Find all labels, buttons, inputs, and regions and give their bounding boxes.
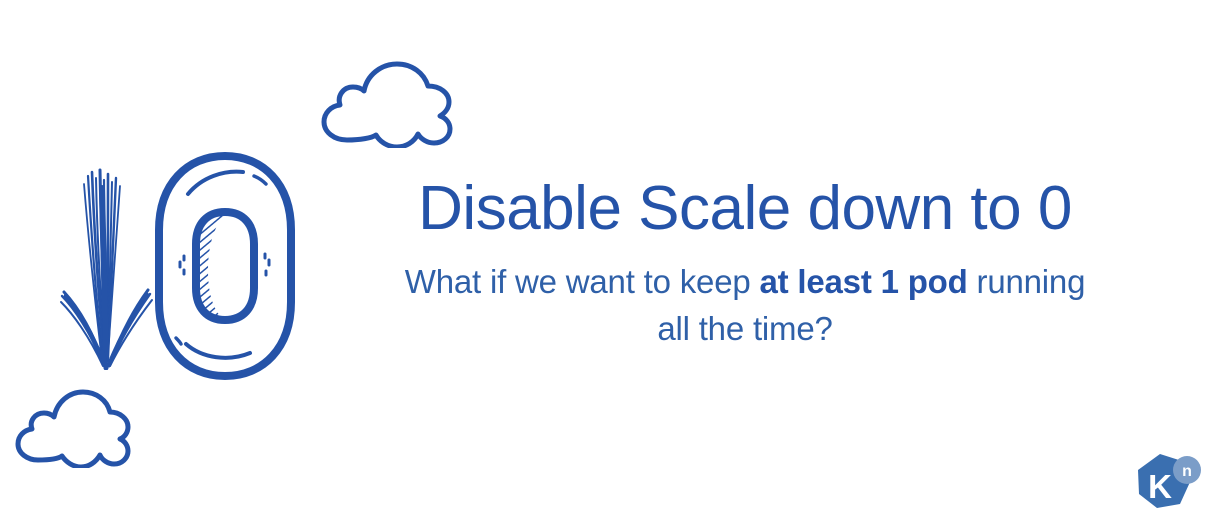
subtitle-emphasis: at least 1 pod bbox=[759, 263, 967, 300]
knative-logo: K n bbox=[1130, 450, 1202, 518]
cloud-icon bbox=[314, 56, 459, 148]
text-block: Disable Scale down to 0 What if we want … bbox=[360, 176, 1130, 353]
slide-canvas: Disable Scale down to 0 What if we want … bbox=[0, 0, 1212, 525]
page-title: Disable Scale down to 0 bbox=[360, 176, 1130, 243]
svg-text:K: K bbox=[1148, 468, 1172, 505]
cloud-icon bbox=[10, 384, 132, 468]
subtitle-line-1: What if we want to keep at least 1 pod r… bbox=[360, 259, 1130, 306]
subtitle-line-2: all the time? bbox=[360, 306, 1130, 353]
arrow-down-icon bbox=[58, 168, 158, 370]
subtitle: What if we want to keep at least 1 pod r… bbox=[360, 259, 1130, 353]
subtitle-suffix: running bbox=[968, 263, 1086, 300]
svg-text:n: n bbox=[1182, 463, 1192, 480]
sketched-zero-icon bbox=[150, 150, 300, 382]
subtitle-prefix: What if we want to keep bbox=[405, 263, 760, 300]
